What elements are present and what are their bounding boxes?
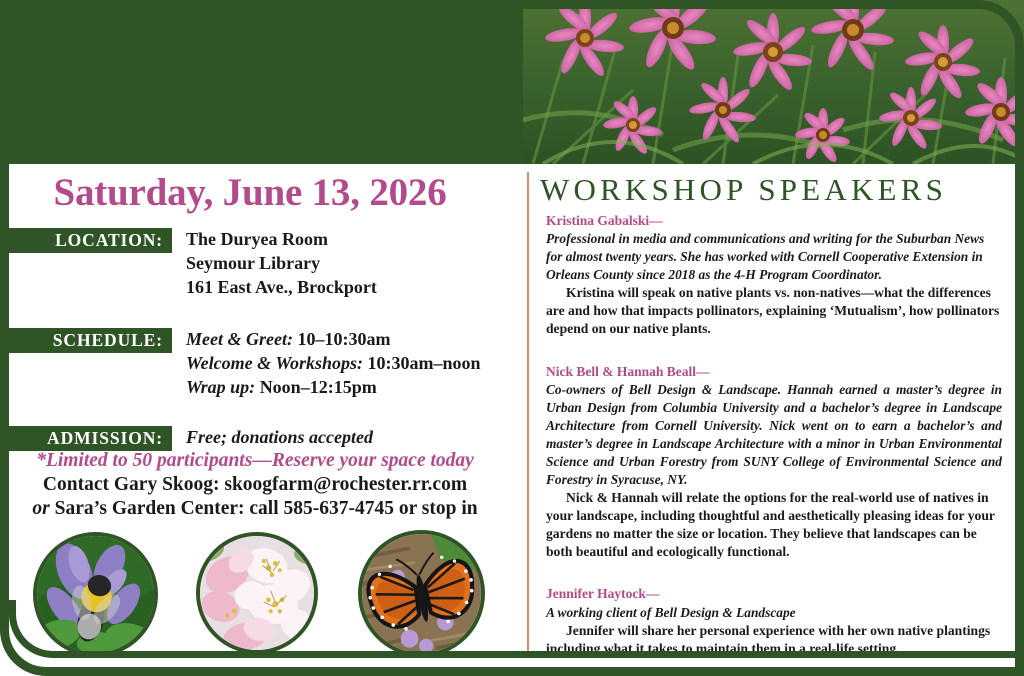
monarch-photo-graphic xyxy=(362,534,481,653)
location-line-3: 161 East Ave., Brockport xyxy=(186,276,520,300)
schedule-term: Meet & Greet: xyxy=(186,329,293,349)
flyer-poster: ANNOUNCING GATHER AND GROW: A workshop f… xyxy=(0,0,1024,676)
limited-seats-note: *Limited to 50 participants—Reserve your… xyxy=(0,450,510,472)
location-line-1: The Duryea Room xyxy=(186,228,520,252)
speaker-name: Nick Bell & Hannah Beall— xyxy=(546,363,1002,381)
event-date: Saturday, June 13, 2026 xyxy=(0,170,500,215)
detail-row-location: LOCATION: The Duryea Room Seymour Librar… xyxy=(0,228,520,299)
speaker-entry-jennifer-haytock: Jennifer Haytock— A working client of Be… xyxy=(546,585,1002,658)
contact-line2-lead: or xyxy=(32,498,49,519)
schedule-term: Wrap up: xyxy=(186,377,255,397)
speaker-entry-kristina-gabalski: Kristina Gabalski— Professional in media… xyxy=(546,212,1002,339)
coneflower-photo-graphic xyxy=(523,0,1024,164)
speaker-bio: A working client of Bell Design & Landsc… xyxy=(546,604,1002,622)
detail-row-admission: ADMISSION: Free; donations accepted xyxy=(0,426,520,450)
speaker-spacer xyxy=(546,574,1002,585)
apple-blossom-photo-graphic xyxy=(200,536,314,650)
detail-row-schedule: SCHEDULE: Meet & Greet: 10–10:30am Welco… xyxy=(0,328,520,399)
value-schedule: Meet & Greet: 10–10:30am Welcome & Works… xyxy=(186,328,520,399)
event-details-list: LOCATION: The Duryea Room Seymour Librar… xyxy=(0,228,520,449)
schedule-detail: 10–10:30am xyxy=(297,329,390,349)
speaker-bio: Professional in media and communications… xyxy=(546,230,1002,284)
label-admission: ADMISSION: xyxy=(0,426,172,451)
bee-photo-graphic xyxy=(37,536,154,653)
location-line-2: Seymour Library xyxy=(186,252,520,276)
speaker-talk: Kristina will speak on native plants vs.… xyxy=(546,284,1002,339)
speaker-spacer xyxy=(546,352,1002,363)
speaker-bio: Co-owners of Bell Design & Landscape. Ha… xyxy=(546,381,1002,489)
speaker-talk: Jennifer will share her personal experie… xyxy=(546,622,1002,658)
speakers-list: Kristina Gabalski— Professional in media… xyxy=(546,212,1002,671)
schedule-detail: Noon–12:15pm xyxy=(260,377,377,397)
contact-email-line: Contact Gary Skoog: skoogfarm@rochester.… xyxy=(0,474,510,496)
speaker-entry-nick-bell-hannah-beall: Nick Bell & Hannah Beall— Co-owners of B… xyxy=(546,363,1002,562)
bee-on-purple-iris-photo xyxy=(33,532,158,657)
label-location: LOCATION: xyxy=(0,228,172,253)
schedule-item: Welcome & Workshops: 10:30am–noon xyxy=(186,352,520,376)
contact-phone-line: or Sara’s Garden Center: call 585-637-47… xyxy=(0,498,510,520)
contact-line2-rest: Sara’s Garden Center: call 585-637-4745 … xyxy=(50,498,478,519)
speaker-name: Kristina Gabalski— xyxy=(546,212,1002,230)
value-location: The Duryea Room Seymour Library 161 East… xyxy=(186,228,520,299)
schedule-term: Welcome & Workshops: xyxy=(186,353,363,373)
value-admission: Free; donations accepted xyxy=(186,426,520,450)
speakers-section-heading: WORKSHOP SPEAKERS xyxy=(540,172,1010,208)
header-coneflower-photo xyxy=(523,0,1024,164)
monarch-butterfly-photo xyxy=(358,530,485,657)
speaker-talk: Nick & Hannah will relate the options fo… xyxy=(546,489,1002,562)
header-green-band xyxy=(0,0,523,164)
schedule-detail: 10:30am–noon xyxy=(368,353,481,373)
schedule-item: Meet & Greet: 10–10:30am xyxy=(186,328,520,352)
label-schedule: SCHEDULE: xyxy=(0,328,172,353)
apple-blossom-photo xyxy=(196,532,318,654)
speaker-name: Jennifer Haytock— xyxy=(546,585,1002,603)
schedule-item: Wrap up: Noon–12:15pm xyxy=(186,376,520,400)
column-divider-rule xyxy=(527,172,529,656)
